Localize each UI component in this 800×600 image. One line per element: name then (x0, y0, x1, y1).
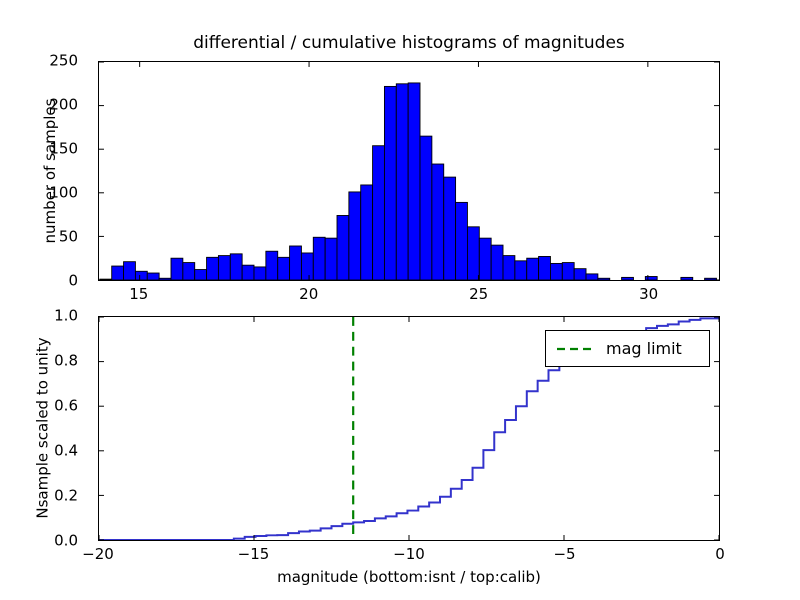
top-panel-ylabel: number of samples (42, 61, 58, 281)
histogram-bar (491, 245, 503, 280)
histogram-bar (278, 257, 290, 280)
bottom-panel-xtick-label: −15 (238, 545, 270, 563)
top-panel-xtick-row: 15202530 (98, 285, 720, 307)
histogram-bar (550, 263, 562, 280)
bottom-panel-ytick-label: 0.6 (54, 399, 86, 414)
histogram-bar (456, 202, 468, 280)
histogram-bar (135, 271, 147, 280)
histogram-bar (242, 265, 254, 280)
histogram-bar (159, 278, 171, 280)
top-panel-xtick-label: 20 (299, 285, 318, 303)
histogram-bar (349, 192, 361, 280)
histogram-bar (195, 270, 207, 280)
bottom-panel-xtick-label: −20 (82, 545, 114, 563)
histogram-bar (598, 278, 610, 280)
histogram-bar (171, 258, 183, 280)
figure-canvas: differential / cumulative histograms of … (0, 0, 800, 600)
histogram-bar (373, 146, 385, 280)
histogram-bar (408, 83, 420, 280)
histogram-bar (586, 274, 598, 280)
legend[interactable]: mag limit (545, 330, 710, 367)
histogram-bar (432, 164, 444, 280)
top-panel-xtick-label: 25 (469, 285, 488, 303)
histogram-bar (361, 185, 373, 280)
histogram-bar (420, 136, 432, 280)
histogram-bar (681, 277, 693, 280)
histogram-bar (562, 263, 574, 280)
mag-limit-line-icon (556, 343, 594, 355)
histogram-bar (290, 246, 302, 280)
histogram-bar (207, 257, 219, 280)
top-panel-ytick-label: 50 (59, 230, 86, 245)
bottom-panel-ylabel: Nsample scaled to unity (35, 316, 51, 541)
histogram-bar (147, 273, 159, 280)
top-panel-axes (98, 61, 720, 281)
histogram-plot (99, 62, 719, 280)
histogram-bar (574, 269, 586, 280)
histogram-bar (396, 84, 408, 280)
bottom-panel-xtick-label: −5 (553, 545, 575, 563)
histogram-bar (645, 277, 657, 280)
histogram-bar (325, 238, 337, 280)
histogram-bar (218, 256, 230, 280)
top-panel-xtick-label: 30 (639, 285, 658, 303)
bottom-panel-xtick-label: 0 (715, 545, 725, 563)
bottom-panel-xtick-label: −10 (393, 545, 425, 563)
histogram-bar (479, 238, 491, 280)
histogram-bar (503, 256, 515, 280)
histogram-bar (515, 261, 527, 280)
histogram-bar (337, 215, 349, 280)
histogram-bar (112, 266, 124, 280)
histogram-bar (266, 251, 278, 280)
histogram-bar (124, 262, 136, 280)
histogram-bar (384, 86, 396, 280)
bottom-panel-ytick-label: 1.0 (54, 309, 86, 324)
histogram-bar (622, 277, 634, 280)
histogram-bar (527, 258, 539, 280)
top-panel-xtick-label: 15 (129, 285, 148, 303)
bottom-panel-ytick-label: 0.2 (54, 489, 86, 504)
bottom-panel-xlabel: magnitude (bottom:isnt / top:calib) (98, 568, 720, 586)
histogram-bar (301, 253, 313, 280)
top-panel-ytick-label: 0 (68, 274, 86, 289)
histogram-bar (254, 267, 266, 280)
bottom-panel-xtick-row: −20−15−10−50 (98, 545, 720, 567)
histogram-bar (444, 177, 456, 280)
legend-label-mag-limit: mag limit (606, 339, 682, 358)
histogram-bar (467, 227, 479, 280)
histogram-bar (313, 237, 325, 280)
histogram-bar (183, 263, 195, 280)
histogram-bar (539, 256, 551, 280)
bottom-panel-ytick-label: 0.8 (54, 354, 86, 369)
histogram-bar (230, 254, 242, 280)
bottom-panel-ytick-label: 0.4 (54, 444, 86, 459)
page-title: differential / cumulative histograms of … (98, 33, 720, 53)
